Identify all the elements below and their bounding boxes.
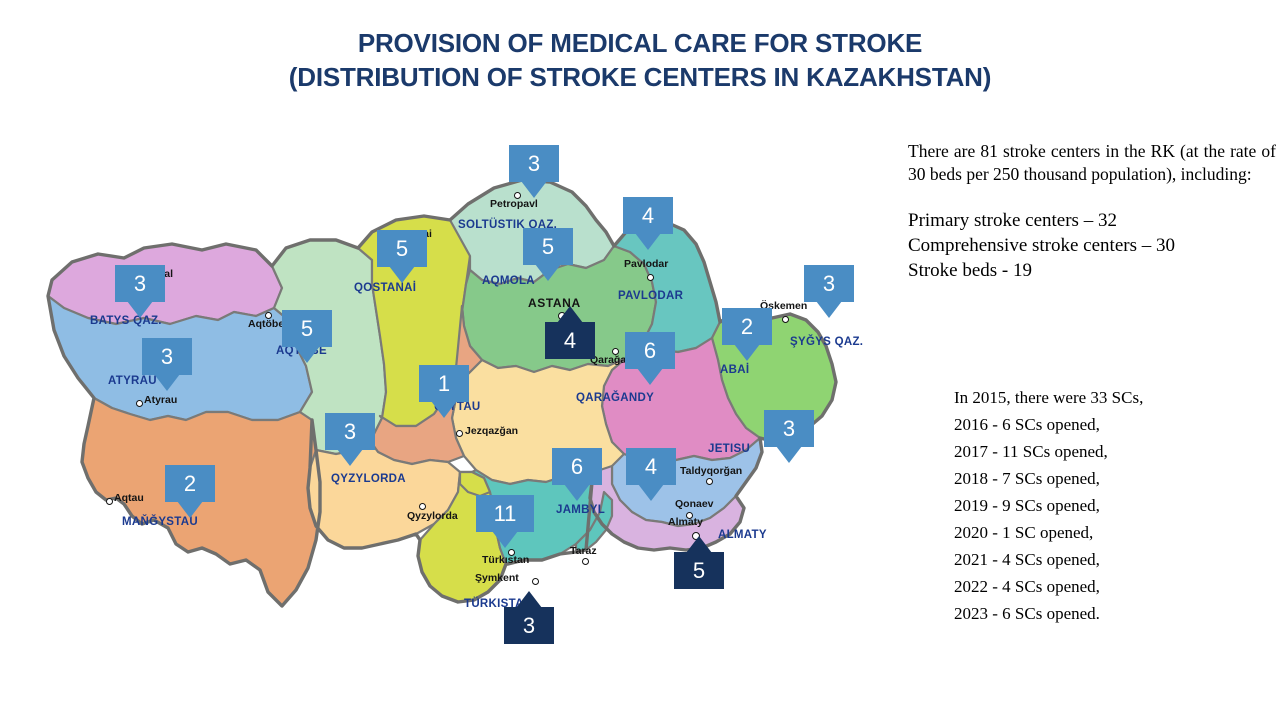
marker-jetisu[interactable]: 3 xyxy=(764,410,814,447)
city-dot-atyrau xyxy=(136,400,143,407)
marker-value: 2 xyxy=(165,465,215,502)
marker-arrow-down-icon xyxy=(177,501,203,518)
city-label-symkent: Şymkent xyxy=(475,572,519,584)
marker-jambyl[interactable]: 6 xyxy=(552,448,602,485)
marker-arrow-up-icon xyxy=(686,536,712,553)
city-dot-symkent xyxy=(532,578,539,585)
marker-arrow-down-icon xyxy=(535,264,561,281)
city-label-qonaev: Qonaev xyxy=(675,498,714,510)
marker-soltustik-qaz[interactable]: 3 xyxy=(509,145,559,182)
intro-paragraph: There are 81 stroke centers in the RK (a… xyxy=(908,140,1276,186)
side-panel: There are 81 stroke centers in the RK (a… xyxy=(908,140,1276,283)
city-label-pavlodar: Pavlodar xyxy=(624,258,668,270)
marker-value: 6 xyxy=(552,448,602,485)
marker-ulytau[interactable]: 1 xyxy=(419,365,469,402)
city-label-aqtobe: Aqtöbe xyxy=(248,318,284,330)
marker-city-almaty[interactable]: 5 xyxy=(674,552,724,589)
marker-arrow-down-icon xyxy=(734,344,760,361)
year-row-2022: 2022 - 4 SCs opened, xyxy=(954,573,1274,600)
city-label-taraz: Taraz xyxy=(570,545,597,557)
marker-value: 5 xyxy=(377,230,427,267)
marker-turkistan[interactable]: 11 xyxy=(476,495,534,532)
region-shape-batys-qaz xyxy=(48,244,282,324)
title-line-2: (DISTRIBUTION OF STROKE CENTERS IN KAZAK… xyxy=(0,60,1280,94)
marker-value: 5 xyxy=(282,310,332,347)
marker-arrow-down-icon xyxy=(776,446,802,463)
marker-value: 2 xyxy=(722,308,772,345)
marker-city-symkent[interactable]: 3 xyxy=(504,607,554,644)
marker-value: 5 xyxy=(674,552,724,589)
region-label-almaty: ALMATY xyxy=(718,529,767,541)
marker-value: 11 xyxy=(476,495,534,532)
marker-mangystau[interactable]: 2 xyxy=(165,465,215,502)
marker-value: 3 xyxy=(115,265,165,302)
city-dot-taraz xyxy=(582,558,589,565)
year-row-2021: 2021 - 4 SCs opened, xyxy=(954,546,1274,573)
region-label-jambyl: JAMBYL xyxy=(556,504,605,516)
marker-value: 4 xyxy=(623,197,673,234)
marker-value: 6 xyxy=(625,332,675,369)
city-dot-qyzylorda xyxy=(419,503,426,510)
region-label-sygys-qaz: ŞYĞYS QAZ. xyxy=(790,336,863,348)
marker-arrow-down-icon xyxy=(337,449,363,466)
city-dot-petropavl xyxy=(514,192,521,199)
city-dot-qonaev xyxy=(686,512,693,519)
marker-value: 4 xyxy=(626,448,676,485)
year-row-2023: 2023 - 6 SCs opened. xyxy=(954,600,1274,627)
marker-value: 4 xyxy=(545,322,595,359)
marker-arrow-down-icon xyxy=(294,346,320,363)
year-row-2019: 2019 - 9 SCs opened, xyxy=(954,492,1274,519)
marker-aqmola[interactable]: 5 xyxy=(523,228,573,265)
marker-arrow-down-icon xyxy=(637,368,663,385)
year-row-2017: 2017 - 11 SCs opened, xyxy=(954,438,1274,465)
marker-qyzylorda[interactable]: 3 xyxy=(325,413,375,450)
marker-value: 5 xyxy=(523,228,573,265)
city-dot-aqtau xyxy=(106,498,113,505)
marker-arrow-down-icon xyxy=(635,233,661,250)
marker-arrow-down-icon xyxy=(492,531,518,548)
counts-block: Primary stroke centers – 32 Comprehensiv… xyxy=(908,208,1276,283)
marker-arrow-up-icon xyxy=(516,591,542,608)
count-comprehensive-stroke-centers: Comprehensive stroke centers – 30 xyxy=(908,233,1276,258)
year-row-2018: 2018 - 7 SCs opened, xyxy=(954,465,1274,492)
marker-qostanai[interactable]: 5 xyxy=(377,230,427,267)
city-label-taldyqorgan: Taldyqorğan xyxy=(680,465,742,477)
yearly-openings-list: In 2015, there were 33 SCs, 2016 - 6 SCs… xyxy=(954,384,1274,627)
count-stroke-beds: Stroke beds - 19 xyxy=(908,258,1276,283)
city-label-atyrau: Atyrau xyxy=(144,394,177,406)
marker-atyrau[interactable]: 3 xyxy=(142,338,192,375)
city-dot-aqtobe xyxy=(265,312,272,319)
title-line-1: PROVISION OF MEDICAL CARE FOR STROKE xyxy=(0,26,1280,60)
marker-value: 3 xyxy=(142,338,192,375)
marker-value: 3 xyxy=(325,413,375,450)
city-dot-qaragandy xyxy=(612,348,619,355)
city-dot-jezqazgan xyxy=(456,430,463,437)
marker-sygys-qaz[interactable]: 3 xyxy=(804,265,854,302)
region-label-pavlodar: PAVLODAR xyxy=(618,290,683,302)
city-label-turkistan: Türkıstan xyxy=(482,554,529,566)
marker-arrow-down-icon xyxy=(154,374,180,391)
city-label-aqtau: Aqtau xyxy=(114,492,144,504)
city-dot-taldyqorgan xyxy=(706,478,713,485)
year-row-2020: 2020 - 1 SC opened, xyxy=(954,519,1274,546)
city-label-petropavl: Petropavl xyxy=(490,198,538,210)
marker-value: 3 xyxy=(804,265,854,302)
page-title: PROVISION OF MEDICAL CARE FOR STROKE (DI… xyxy=(0,26,1280,94)
city-label-qyzylorda: Qyzylorda xyxy=(407,510,458,522)
marker-abai[interactable]: 2 xyxy=(722,308,772,345)
region-label-aqmola: AQMOLA xyxy=(482,275,535,287)
marker-arrow-down-icon xyxy=(564,484,590,501)
marker-arrow-down-icon xyxy=(816,301,842,318)
marker-value: 3 xyxy=(764,410,814,447)
marker-arrow-down-icon xyxy=(389,266,415,283)
marker-value: 3 xyxy=(509,145,559,182)
marker-arrow-down-icon xyxy=(638,484,664,501)
region-label-abai: ABAİ xyxy=(720,364,749,376)
marker-arrow-down-icon xyxy=(431,401,457,418)
marker-value: 1 xyxy=(419,365,469,402)
marker-value: 3 xyxy=(504,607,554,644)
year-row-2016: 2016 - 6 SCs opened, xyxy=(954,411,1274,438)
marker-qaragandy[interactable]: 6 xyxy=(625,332,675,369)
city-label-jezqazgan: Jezqazğan xyxy=(465,425,518,437)
region-label-qostanai: QOSTANAİ xyxy=(354,282,416,294)
region-label-qaragandy: QARAĞANDY xyxy=(576,392,654,404)
kazakhstan-map: Oral Atyrau Aqtau Aqtöbe Qostanai Petrop… xyxy=(20,120,900,680)
year-row-2015: In 2015, there were 33 SCs, xyxy=(954,384,1274,411)
city-dot-turkistan xyxy=(508,549,515,556)
marker-aqtobe[interactable]: 5 xyxy=(282,310,332,347)
marker-arrow-down-icon xyxy=(127,301,153,318)
count-primary-stroke-centers: Primary stroke centers – 32 xyxy=(908,208,1276,233)
region-label-jetisu: JETISU xyxy=(708,443,750,455)
marker-pavlodar[interactable]: 4 xyxy=(623,197,673,234)
region-label-qyzylorda: QYZYLORDA xyxy=(331,473,406,485)
marker-city-astana[interactable]: 4 xyxy=(545,322,595,359)
city-label-almaty: Almaty xyxy=(668,516,703,528)
region-label-atyrau: ATYRAU xyxy=(108,375,157,387)
city-dot-oskemen xyxy=(782,316,789,323)
city-dot-pavlodar xyxy=(647,274,654,281)
marker-arrow-up-icon xyxy=(557,306,583,323)
marker-almaty-region[interactable]: 4 xyxy=(626,448,676,485)
marker-batys-qaz[interactable]: 3 xyxy=(115,265,165,302)
marker-arrow-down-icon xyxy=(521,181,547,198)
